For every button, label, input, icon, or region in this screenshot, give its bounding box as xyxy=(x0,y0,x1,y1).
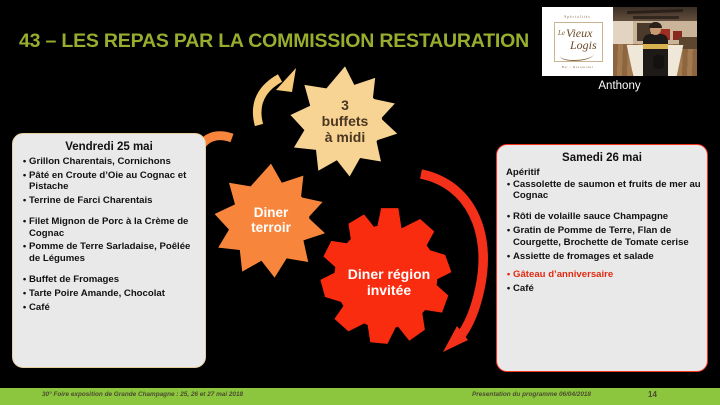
list-item: • Grillon Charentais, Cornichons xyxy=(20,156,199,167)
gear-diner-region-invitee: Diner région invitée xyxy=(311,205,467,361)
bullet-icon: • xyxy=(20,288,29,299)
panel-vendredi-title: Vendredi 25 mai xyxy=(13,141,205,153)
bullet-icon: • xyxy=(504,225,513,248)
group-spacer xyxy=(20,209,199,216)
gear-terroir-label: Diner terroir xyxy=(251,205,291,236)
panel-samedi-subheading: Apéritif xyxy=(506,167,701,178)
panel-vendredi-body: • Grillon Charentais, Cornichons • Pâté … xyxy=(13,156,205,313)
list-item: • Buffet de Fromages xyxy=(20,274,199,285)
panel-samedi-body: Apéritif • Cassolette de saumon et fruit… xyxy=(497,167,707,295)
slide-canvas: 43 – LES REPAS PAR LA COMMISSION RESTAUR… xyxy=(0,0,720,405)
bullet-icon: • xyxy=(504,251,513,262)
bullet-icon: • xyxy=(20,195,29,206)
bullet-icon: • xyxy=(20,241,29,264)
footer-event-text: 30° Foire exposition de Grande Champagne… xyxy=(42,391,243,398)
bullet-icon: • xyxy=(20,156,29,167)
bullet-icon: • xyxy=(504,211,513,222)
list-item: • Gratin de Pomme de Terre, Flan de Cour… xyxy=(504,225,701,248)
list-item: • Tarte Poire Amande, Chocolat xyxy=(20,288,199,299)
gear-region-line1: Diner région xyxy=(348,267,430,283)
group-spacer xyxy=(504,204,701,211)
gear-buffets-label: 3 buffets à midi xyxy=(322,98,369,146)
footer-presentation-text: Presentation du programme 06/04/2018 xyxy=(472,391,591,398)
gear-region-label: Diner région invitée xyxy=(348,267,430,299)
panel-vendredi: Vendredi 25 mai • Grillon Charentais, Co… xyxy=(12,133,206,368)
panel-samedi: Samedi 26 mai Apéritif • Cassolette de s… xyxy=(496,144,708,372)
bullet-icon: • xyxy=(20,170,29,193)
bullet-icon: • xyxy=(20,274,29,285)
gear-terroir-line1: Diner xyxy=(251,205,291,220)
gear-buffets-line1: 3 xyxy=(322,98,369,114)
list-item: • Assiette de fromages et salade xyxy=(504,251,701,262)
list-item-highlighted: • Gâteau d’anniversaire xyxy=(504,269,701,280)
group-spacer xyxy=(20,267,199,274)
list-item: • Café xyxy=(504,283,701,294)
list-item: • Pâté en Croute d’Oie au Cognac et Pist… xyxy=(20,170,199,193)
bullet-icon: • xyxy=(504,269,513,280)
bullet-icon: • xyxy=(504,179,513,202)
panel-samedi-title: Samedi 26 mai xyxy=(497,152,707,164)
list-item: • Café xyxy=(20,302,199,313)
list-item: • Pomme de Terre Sarladaise, Poêlée de L… xyxy=(20,241,199,264)
gear-buffets-line2: buffets xyxy=(322,114,369,130)
gear-region-line2: invitée xyxy=(348,283,430,299)
list-item: • Terrine de Farci Charentais xyxy=(20,195,199,206)
footer-page-number: 14 xyxy=(648,390,657,399)
list-item: • Rôti de volaille sauce Champagne xyxy=(504,211,701,222)
bullet-icon: • xyxy=(20,302,29,313)
list-item: • Filet Mignon de Porc à la Crème de Cog… xyxy=(20,216,199,239)
footer-bar: 30° Foire exposition de Grande Champagne… xyxy=(0,388,720,405)
bullet-icon: • xyxy=(504,283,513,294)
bullet-icon: • xyxy=(20,216,29,239)
gear-buffets-line3: à midi xyxy=(322,130,369,146)
gear-terroir-line2: terroir xyxy=(251,220,291,235)
list-item: • Cassolette de saumon et fruits de mer … xyxy=(504,179,701,202)
